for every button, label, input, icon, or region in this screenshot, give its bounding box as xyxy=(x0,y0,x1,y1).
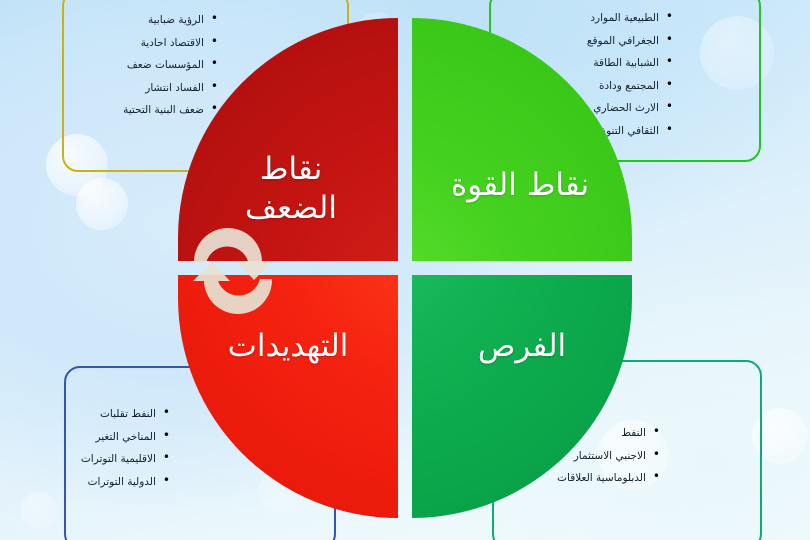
quadrant-label-opportunities: الفرص xyxy=(424,327,620,367)
swot-diagram-canvas: الرؤية ضبابية الاقتصاد احادية المؤسسات ض… xyxy=(0,0,810,540)
decorative-bubble xyxy=(20,492,58,530)
quadrant-weaknesses[interactable]: نقاط الضعف xyxy=(178,18,398,261)
quadrant-label-threats: التهديدات xyxy=(186,327,390,367)
quadrant-strengths[interactable]: نقاط القوة xyxy=(412,18,632,261)
threats-bullet-list: النفط تقلبات المناخي التغير الاقليمية ال… xyxy=(81,406,170,496)
list-item: الدولية التوترات xyxy=(81,474,170,488)
quadrant-label-weaknesses: نقاط الضعف xyxy=(198,150,384,229)
decorative-bubble xyxy=(76,178,128,230)
list-item: الاقليمية التوترات xyxy=(81,451,170,465)
list-item: المناخي التغير xyxy=(81,429,170,443)
swot-wheel: نقاط الضعف نقاط القوة التهديدات الفرص xyxy=(178,18,632,518)
quadrant-threats[interactable]: التهديدات xyxy=(178,275,398,518)
quadrant-label-strengths: نقاط القوة xyxy=(422,166,618,206)
quadrant-opportunities[interactable]: الفرص xyxy=(412,275,632,518)
list-item: النفط تقلبات xyxy=(81,406,170,420)
